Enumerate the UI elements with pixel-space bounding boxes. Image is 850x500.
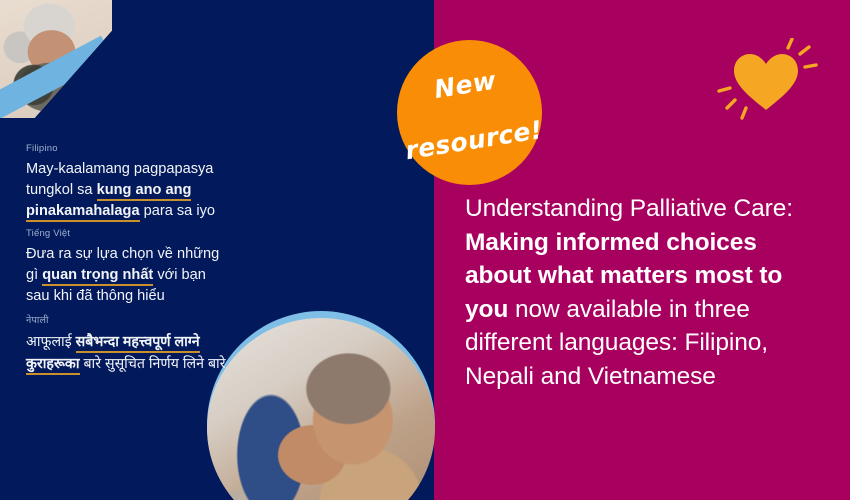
headline-part-3: now available in three different languag… <box>465 296 768 390</box>
language-block-nepali: नेपाली आफूलाई सबैभन्दा महत्त्वपूर्ण लाग्… <box>26 313 241 375</box>
language-text-nepali: आफूलाई सबैभन्दा महत्त्वपूर्ण लाग्ने कुरा… <box>26 331 241 375</box>
headline-part-1: Understanding Palliative Care: <box>465 195 793 222</box>
language-label-filipino: Filipino <box>26 143 231 154</box>
language-block-filipino: Filipino May-kaalamang pagpapasya tungko… <box>26 143 231 222</box>
badge-line-2: resource! <box>403 116 544 165</box>
badge-line-1: New <box>395 60 536 109</box>
vietnamese-text-highlight: quan trọng nhất <box>42 267 153 286</box>
photo-circle-mask <box>207 318 435 500</box>
nepali-text-before: आफूलाई <box>26 334 76 350</box>
language-label-nepali: नेपाली <box>26 313 241 326</box>
photo-elderly-man <box>207 311 435 500</box>
new-resource-badge-text: New resource! <box>387 30 553 196</box>
language-block-vietnamese: Tiếng Việt Đưa ra sự lựa chọn về những g… <box>26 228 231 307</box>
filipino-text-after: para sa iyo <box>140 203 215 219</box>
new-resource-badge: New resource! <box>397 40 542 185</box>
language-text-filipino: May-kaalamang pagpapasya tungkol sa kung… <box>26 159 231 222</box>
language-text-vietnamese: Đưa ra sự lựa chọn về những gì quan trọn… <box>26 244 231 307</box>
language-label-vietnamese: Tiếng Việt <box>26 228 231 239</box>
headline: Understanding Palliative Care: Making in… <box>465 192 823 393</box>
heart-with-rays-icon <box>714 38 818 120</box>
nepali-text-after: बारे सुसूचित निर्णय लिने बारे <box>80 356 226 372</box>
promo-banner: New resource! Filipino May-kaalamang pag… <box>0 0 850 500</box>
photo-elderly-man-image <box>207 318 435 500</box>
